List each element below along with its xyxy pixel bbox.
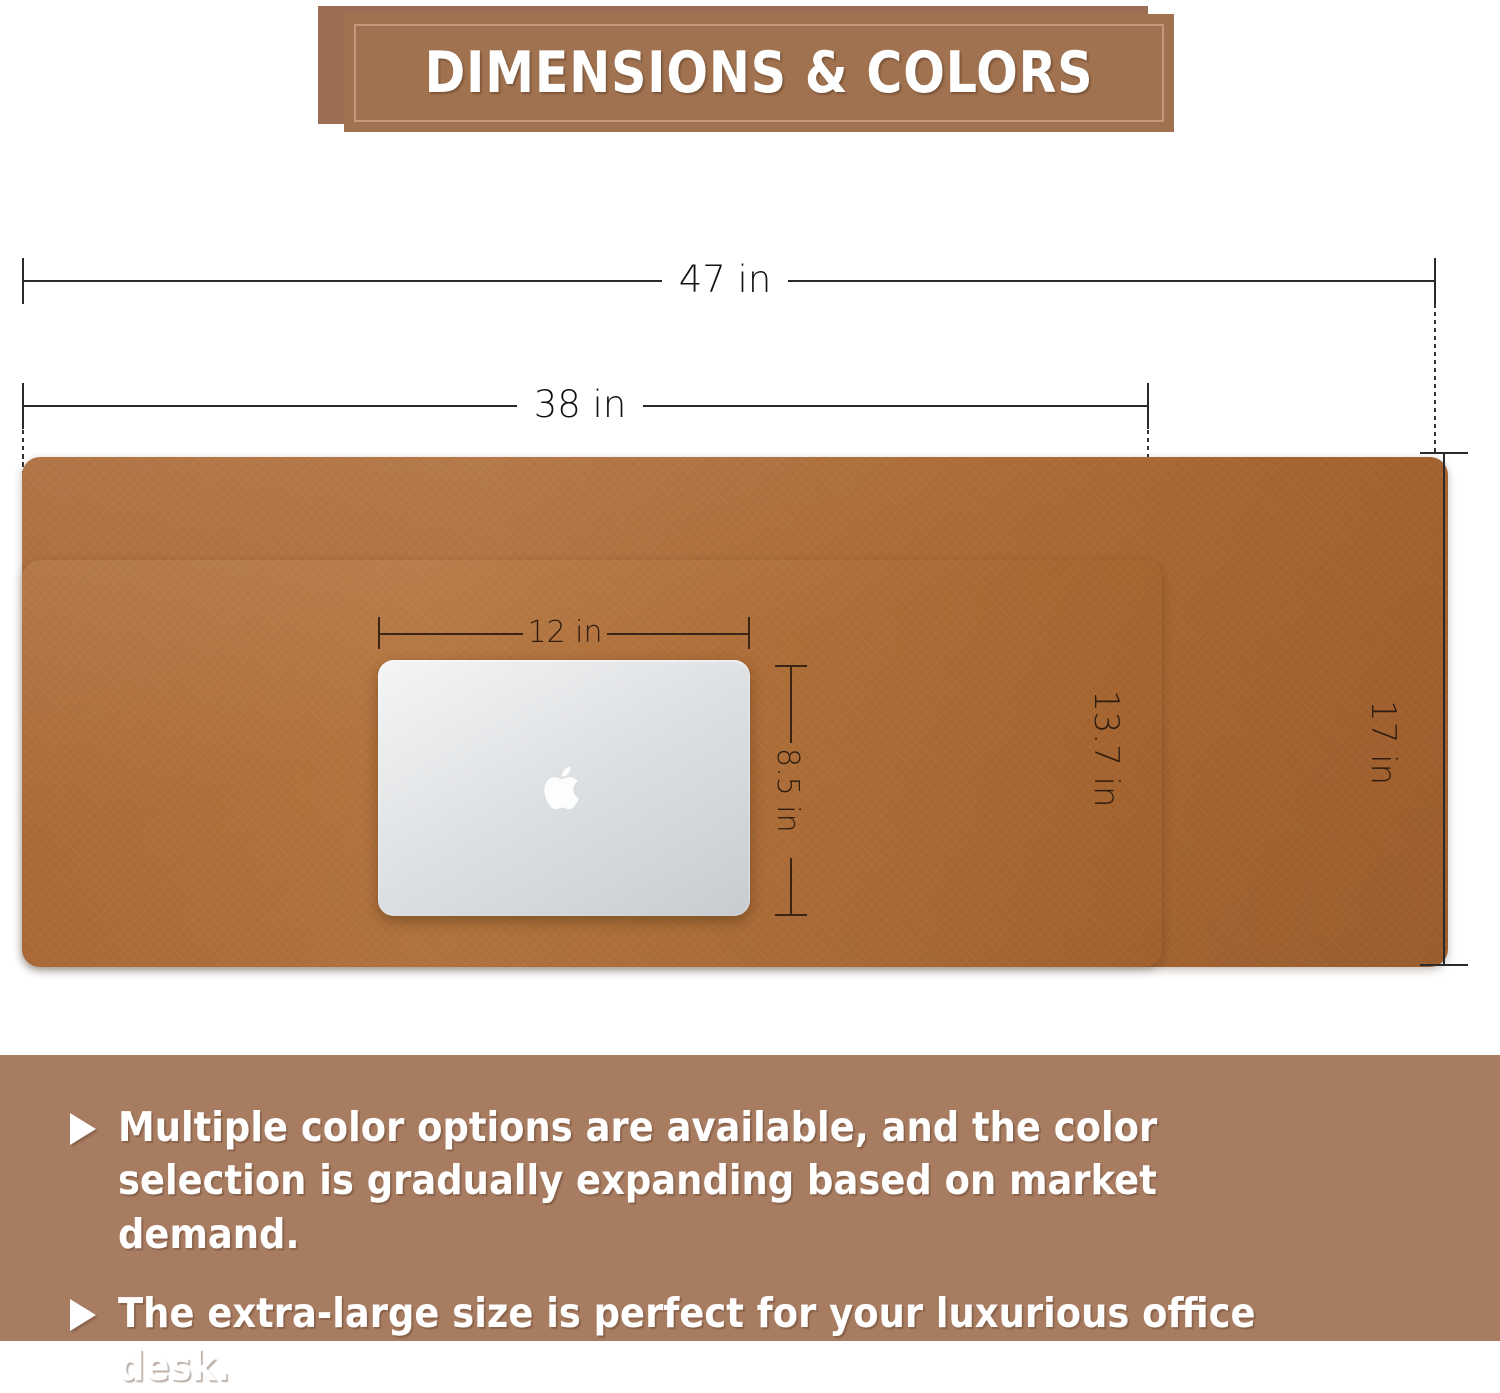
dimension-line-right-segment	[788, 280, 1436, 282]
dimension-cap-bottom	[775, 914, 807, 916]
triangle-bullet-icon	[70, 1113, 96, 1145]
dimension-label-overall-height: 17 in	[1363, 700, 1403, 785]
dimension-line-left-segment	[22, 280, 662, 282]
laptop-device	[378, 660, 750, 916]
dimension-line-upper-segment	[790, 665, 792, 743]
dimension-line-lower-segment	[790, 858, 792, 916]
feature-bullet-row: Multiple color options are available, an…	[70, 1101, 1440, 1261]
dimension-line-left-segment	[378, 633, 523, 635]
dimension-line-vertical	[1443, 452, 1445, 966]
bottom-feature-banner: Multiple color options are available, an…	[0, 1055, 1500, 1341]
feature-bullet-text: Multiple color options are available, an…	[118, 1101, 1308, 1261]
dimension-tick-right	[1434, 258, 1436, 304]
dimension-label-laptop-height: 8.5 in	[770, 748, 805, 833]
dimension-label-laptop-width: 12 in	[523, 615, 607, 650]
dimension-label-overall-width: 47 in	[662, 258, 788, 301]
guide-line-outer-right	[1434, 304, 1436, 454]
dimension-label-inner-height: 13.7 in	[1086, 690, 1126, 808]
feature-bullet-text: The extra-large size is perfect for your…	[118, 1287, 1308, 1393]
dimension-cap-bottom	[1420, 964, 1468, 966]
triangle-bullet-icon	[70, 1299, 96, 1331]
dimension-line-left-segment	[22, 405, 517, 407]
dimension-tick-right	[748, 617, 750, 649]
dimension-tick-right	[1147, 383, 1149, 429]
page-title: DIMENSIONS & COLORS	[402, 14, 1116, 132]
dimension-line-right-segment	[643, 405, 1148, 407]
apple-logo-icon	[543, 763, 585, 813]
feature-bullet-row: The extra-large size is perfect for your…	[70, 1287, 1440, 1393]
title-banner: DIMENSIONS & COLORS	[318, 6, 1174, 132]
dimension-line-right-segment	[607, 633, 749, 635]
dimension-label-inner-width: 38 in	[517, 383, 643, 426]
